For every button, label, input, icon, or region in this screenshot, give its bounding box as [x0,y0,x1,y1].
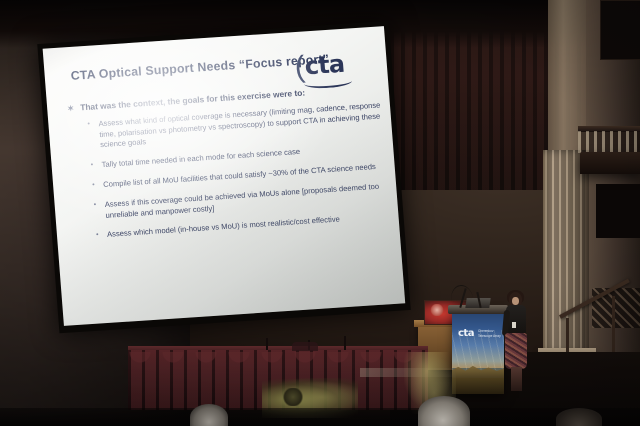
audience-silhouette-band [0,408,640,426]
audience-head [556,408,602,426]
conference-photo: CTA Optical Support Needs “Focus report”… [0,0,640,426]
stage-flower-cluster [282,388,304,406]
audience-head [418,396,470,426]
speaker-skirt [505,333,527,369]
slide-content: CTA Optical Support Needs “Focus report”… [43,26,406,326]
table-mic-stand-3 [344,336,346,350]
table-mic-stand-1 [266,338,268,350]
projection-screen: CTA Optical Support Needs “Focus report”… [37,21,410,333]
lectern-cta-logo: cta [458,328,478,340]
slide-bullet-list: ✶ That was the context, the goals for th… [65,82,394,252]
wall-panel-upper [600,0,640,60]
bullet-marker-icon: ✶ [67,104,74,115]
bullet-marker-icon: • [90,161,93,171]
balcony-underside [580,152,640,174]
lectern-banner-ground [452,378,504,394]
audience-head [190,404,228,426]
speaker-face [512,297,519,305]
speaker-legs [511,367,522,391]
cta-logo: ( cta [294,50,358,88]
bullet-text: Tally total time needed in each mode for… [101,147,300,169]
chair-back [292,342,318,351]
presentation-slide: CTA Optical Support Needs “Focus report”… [43,26,406,326]
wall-panel-lower [596,184,640,238]
bullet-marker-icon: • [93,200,96,210]
balcony-railing-ornament [578,131,640,153]
bullet-marker-icon: • [87,120,90,130]
table-flower-bloom [430,304,444,316]
pilaster-fluting [545,150,585,380]
bullet-marker-icon: • [92,181,95,191]
drape-scalloped-trim [128,352,428,368]
bullet-marker-icon: • [96,231,99,241]
speaker-name-badge [512,322,516,328]
lectern-banner-text: Cherenkov Telescope Array [478,329,502,338]
